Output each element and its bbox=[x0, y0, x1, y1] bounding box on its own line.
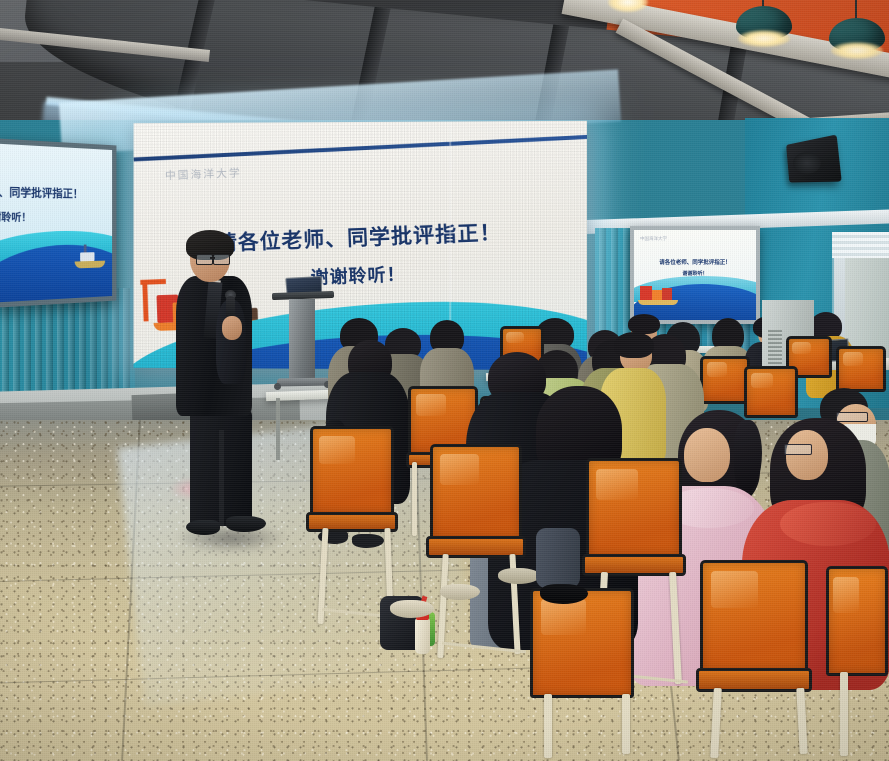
attendee-hair bbox=[614, 332, 654, 358]
lectern-base bbox=[277, 378, 329, 387]
chair-leg bbox=[544, 694, 552, 758]
lectern-caster bbox=[274, 383, 281, 390]
attendee-head bbox=[786, 430, 828, 480]
door-panel bbox=[845, 250, 889, 360]
glasses-icon bbox=[784, 444, 812, 455]
glasses-lens-left-icon bbox=[196, 254, 213, 265]
glasses-lens-right-icon bbox=[213, 254, 230, 265]
left-monitor-ship-graphic bbox=[75, 244, 105, 272]
chair-back[interactable] bbox=[744, 366, 798, 418]
table-leg bbox=[276, 398, 280, 460]
hood-detail bbox=[780, 502, 876, 546]
pendant-lamp-glow bbox=[831, 42, 883, 59]
lecture-hall-photo: 中国海洋大学 请各位老师、同学批评指正！ 谢谢聆听！ 师、同学批评指正！ bbox=[0, 0, 889, 761]
left-monitor-text-primary: 师、同学批评指正！ bbox=[0, 183, 83, 201]
chair-back[interactable] bbox=[700, 356, 750, 404]
window-blind bbox=[832, 232, 889, 258]
attendee-hair bbox=[628, 314, 660, 334]
chair-back[interactable] bbox=[430, 444, 522, 540]
right-wall-monitor: 中国海洋大学 请各位老师、同学批评指正！ 谢谢聆听！ bbox=[630, 226, 760, 324]
chair-back[interactable] bbox=[700, 560, 808, 672]
right-monitor-ship-graphic bbox=[638, 280, 682, 306]
chair-leg bbox=[840, 672, 848, 756]
speaker-cone-icon bbox=[793, 152, 821, 174]
chair-back[interactable] bbox=[310, 426, 394, 516]
glasses-icon bbox=[836, 412, 868, 422]
right-monitor-text-primary: 请各位老师、同学批评指正！ bbox=[634, 258, 756, 266]
right-monitor-watermark: 中国海洋大学 bbox=[640, 236, 667, 242]
lectern-column bbox=[289, 299, 315, 381]
chair-leg bbox=[622, 694, 630, 754]
chair-back[interactable] bbox=[586, 458, 682, 558]
presenter-leg-seam bbox=[219, 430, 224, 526]
right-monitor-text-secondary: 谢谢聆听！ bbox=[634, 270, 756, 277]
pendant-lamp-glow bbox=[738, 30, 790, 47]
water-bottle[interactable] bbox=[415, 618, 430, 654]
chair-back[interactable] bbox=[530, 588, 634, 698]
chair-back[interactable] bbox=[836, 346, 886, 392]
presenter-shoe-left bbox=[186, 520, 220, 535]
left-wall-monitor: 师、同学批评指正！ 谢谢聆听！ bbox=[0, 138, 116, 308]
glasses-bridge-icon bbox=[210, 257, 215, 259]
attendee-head bbox=[684, 428, 730, 482]
attendee-leg bbox=[536, 528, 580, 588]
cabinet-vent bbox=[768, 330, 782, 364]
left-monitor-text-secondary: 谢谢聆听！ bbox=[0, 208, 31, 224]
chair-back[interactable] bbox=[826, 566, 888, 676]
chair-leg bbox=[412, 462, 417, 536]
presenter-hand bbox=[222, 316, 242, 340]
